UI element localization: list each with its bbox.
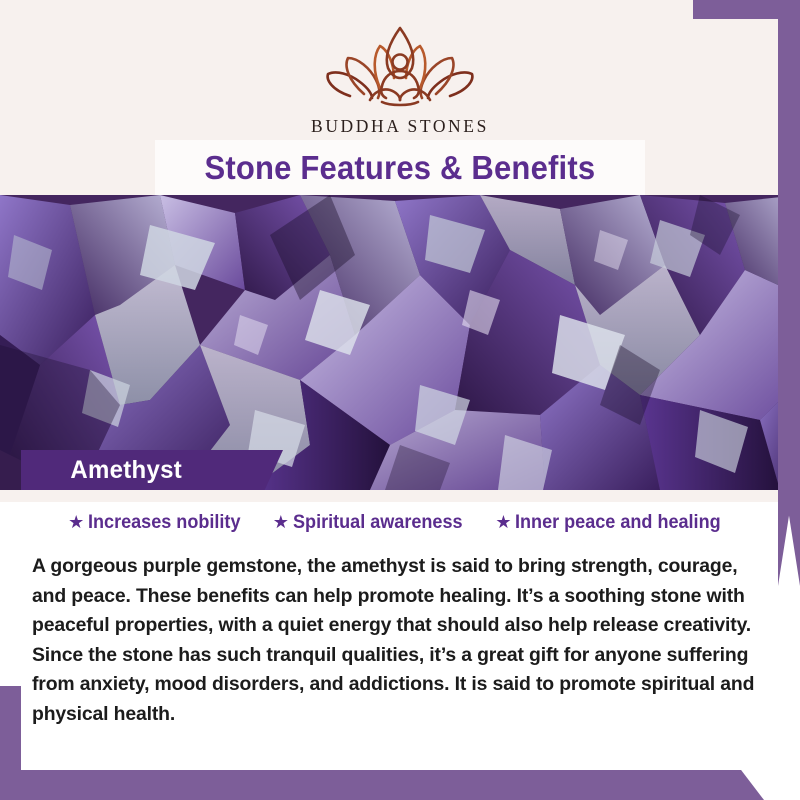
content-top-strip [0, 490, 800, 502]
star-icon: ★ [495, 513, 511, 531]
feature-label: Inner peace and healing [515, 512, 721, 534]
stone-name-banner: Amethyst [21, 450, 283, 490]
feature-item: ★ Spiritual awareness [273, 512, 472, 534]
brand-logo: BUDDHA STONES [0, 18, 800, 137]
stone-info-card: Amethyst [0, 0, 800, 800]
lotus-meditation-icon [320, 18, 480, 114]
page-title: Stone Features & Benefits [155, 140, 645, 195]
star-icon: ★ [68, 513, 84, 531]
amethyst-photo [0, 195, 800, 490]
amethyst-crystal-cluster-graphic [0, 195, 800, 490]
brand-name: BUDDHA STONES [0, 116, 800, 137]
feature-label: Increases nobility [88, 512, 240, 534]
frame-bottom-bar [0, 770, 764, 800]
feature-label: Spiritual awareness [293, 512, 463, 534]
feature-list: ★ Increases nobility ★ Spiritual awarene… [0, 512, 800, 534]
frame-right-bar [778, 0, 800, 586]
page-title-text: Stone Features & Benefits [205, 149, 596, 187]
feature-item: ★ Inner peace and healing [495, 512, 732, 534]
stone-name-label: Amethyst [70, 456, 182, 485]
star-icon: ★ [273, 513, 289, 531]
stone-description: A gorgeous purple gemstone, the amethyst… [32, 552, 776, 729]
feature-item: ★ Increases nobility [68, 512, 249, 534]
content-panel: ★ Increases nobility ★ Spiritual awarene… [0, 490, 800, 800]
